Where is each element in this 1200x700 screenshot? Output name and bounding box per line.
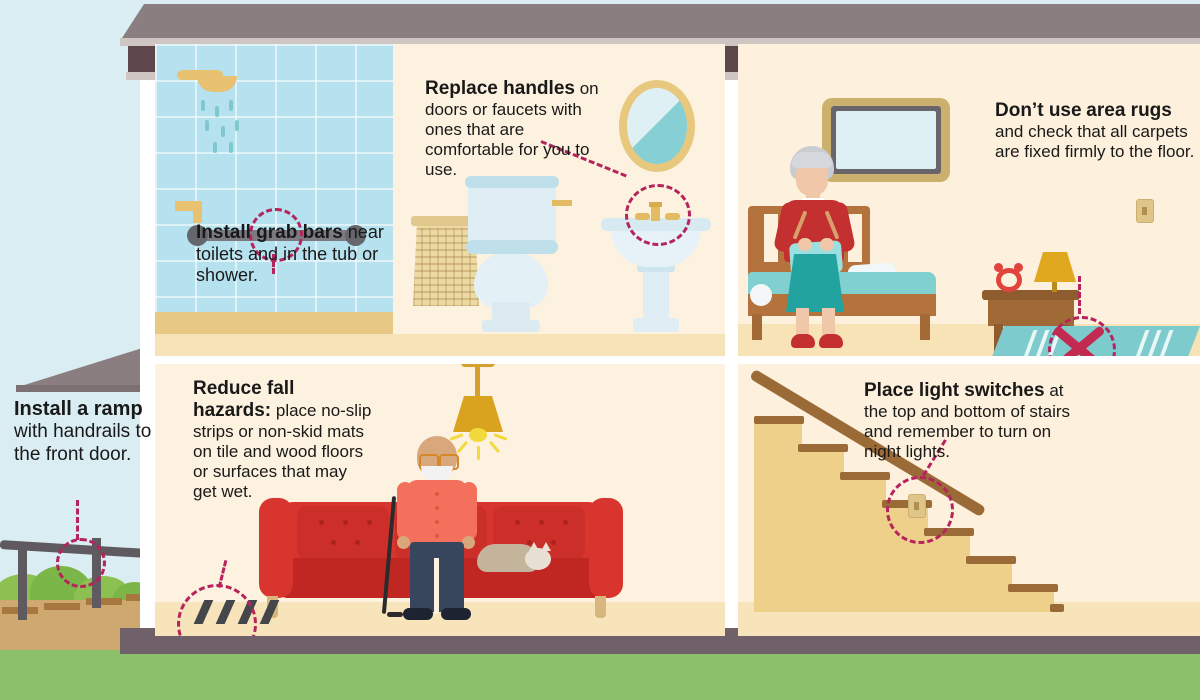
light-switch[interactable] <box>1136 199 1154 223</box>
tip-grab-bars-text: Install grab bars near toilets and in th… <box>196 222 386 286</box>
rug-highlight-line <box>1078 276 1081 314</box>
grass-lawn <box>0 648 1200 700</box>
tip-ramp-body: with handrails to the front door. <box>14 421 151 464</box>
slipper <box>791 334 815 348</box>
ramp-rail-post <box>18 546 27 620</box>
tip-light-switches-text: Place light switches at the top and bott… <box>864 380 1084 462</box>
tip-light-switches-lead: Place light switches <box>864 380 1045 401</box>
shoe <box>441 608 471 620</box>
tip-area-rugs-text: Don’t use area rugs and check that all c… <box>995 100 1195 162</box>
ramp-highlight-line <box>76 500 79 540</box>
tip-area-rugs-lead1: Don’t use <box>995 100 1082 121</box>
tip-ramp-text: Install a ramp with handrails to the fro… <box>14 398 152 466</box>
tip-ramp-lead1: Install <box>14 398 72 420</box>
tip-fall-hazards-lead1: Reduce fall <box>193 378 294 399</box>
tip-handles-text: Replace handles on doors or faucets with… <box>425 78 610 180</box>
yarn-ball <box>750 284 772 306</box>
strips-highlight-circle <box>177 584 257 636</box>
tip-handles-lead: Replace handles <box>425 78 575 99</box>
bathroom-floor <box>155 334 725 356</box>
tub-ledge <box>155 312 393 334</box>
tip-ramp-lead2: a ramp <box>77 398 143 420</box>
towel-bar-arm <box>193 201 202 223</box>
scene-bedroom <box>738 44 1200 356</box>
tip-area-rugs-body: and check that all carpets are fixed fir… <box>995 122 1194 161</box>
tip-fall-hazards-lead2: hazards: <box>193 400 271 421</box>
ramp-highlight-circle <box>56 538 106 588</box>
switch-highlight-circle <box>886 476 954 544</box>
toilet-flush-handle <box>552 200 572 206</box>
infographic-canvas: Install a ramp with handrails to the fro… <box>0 0 1200 700</box>
tip-grab-bars-lead: Install grab bars <box>196 222 343 243</box>
roof-band-upper <box>122 4 1200 38</box>
skirt <box>786 254 844 312</box>
house-roof-edge <box>16 385 154 392</box>
bed-mattress <box>748 272 936 294</box>
rug-x-mark <box>1048 320 1110 356</box>
slipper <box>819 334 843 348</box>
shoe <box>403 608 433 620</box>
faucet-highlight-circle <box>625 184 691 246</box>
tip-fall-hazards-text: Reduce fall hazards: place no-slip strip… <box>193 378 373 502</box>
tip-area-rugs-lead2: area rugs <box>1086 100 1172 121</box>
